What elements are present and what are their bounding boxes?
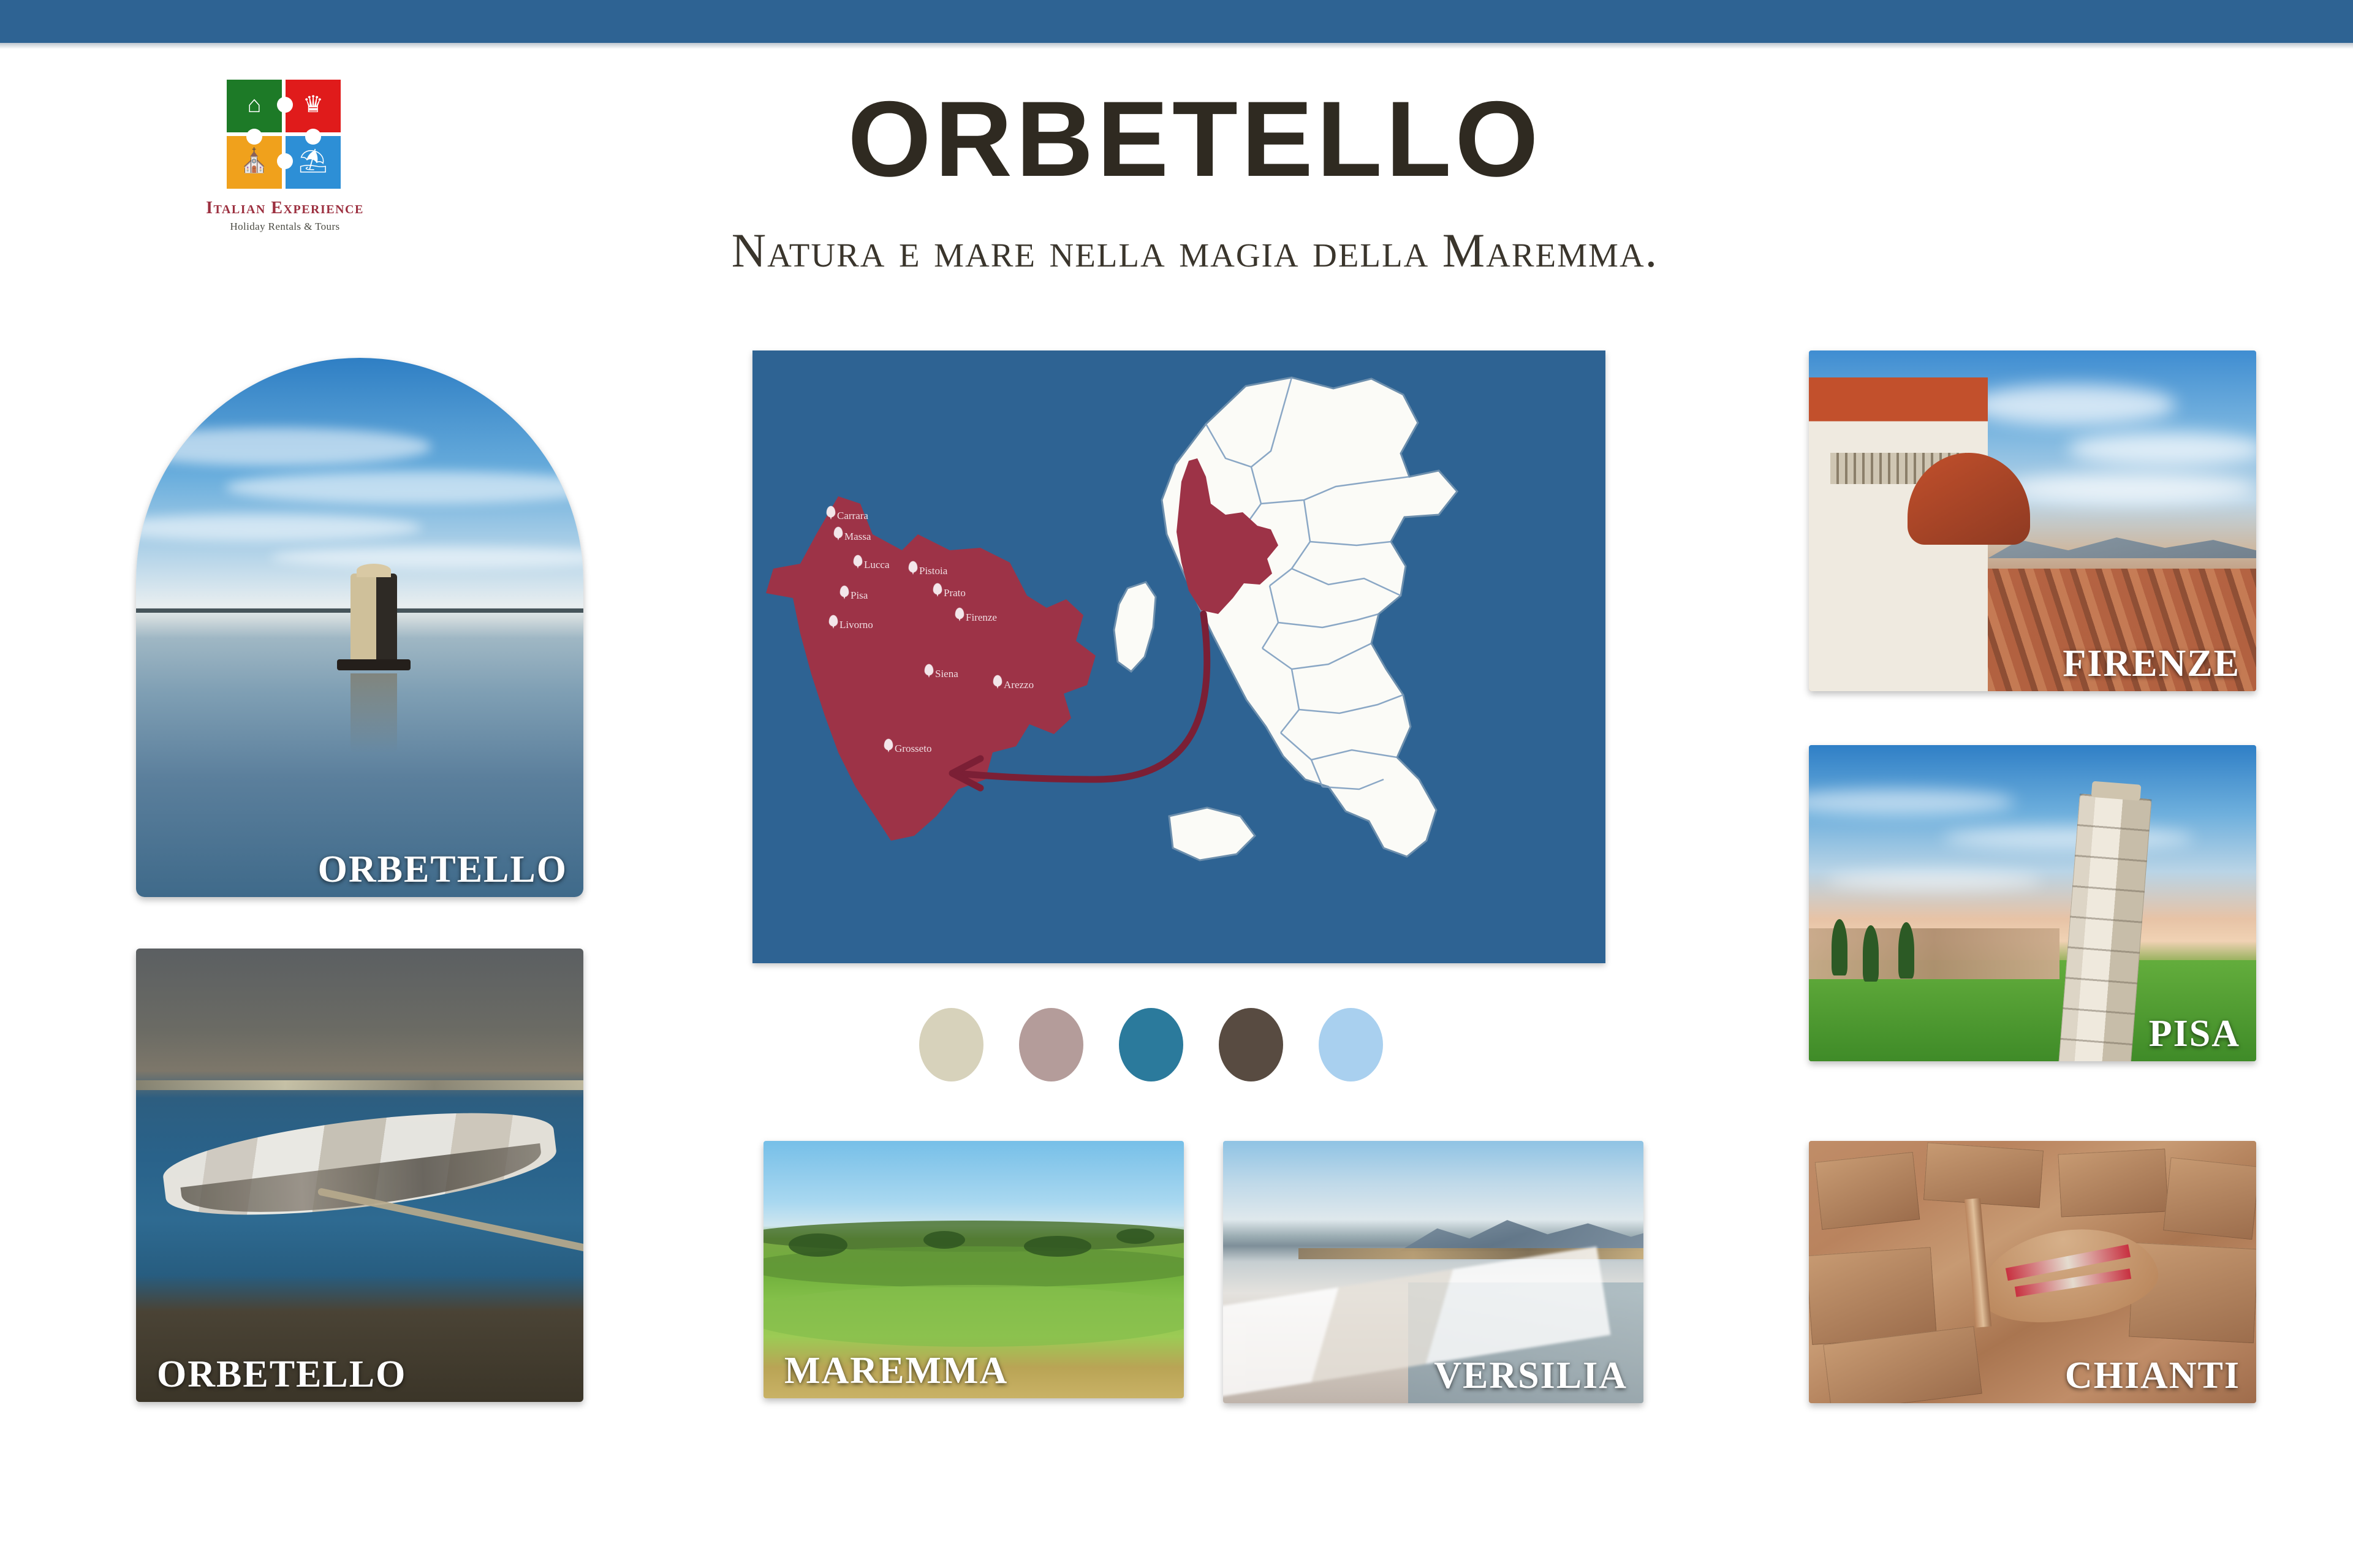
page-subtitle: Natura e mare nella magia della Maremma. (551, 227, 1838, 275)
card-maremma[interactable]: MAREMMA (763, 1141, 1184, 1398)
pin-label: Pistoia (919, 565, 947, 577)
palette-swatch-brown[interactable] (1219, 1008, 1283, 1081)
pin-icon (955, 608, 964, 619)
pin-icon (909, 561, 917, 572)
pin-label: Carrara (837, 510, 868, 522)
color-palette (919, 1005, 1440, 1085)
photo-firenze (1809, 350, 2256, 691)
card-versilia[interactable]: VERSILIA (1223, 1141, 1643, 1403)
top-blue-bar (0, 0, 2353, 43)
mask-icon: ♛ (286, 80, 341, 132)
card-caption: ORBETELLO (157, 1355, 406, 1393)
brand-logo[interactable]: ⌂ ♛ ⛪ ⛱ Italian Experience Holiday Renta… (184, 80, 386, 282)
house-glyph: ⌂ (248, 93, 262, 116)
house-icon: ⌂ (227, 80, 282, 132)
pin-icon (993, 675, 1002, 686)
card-caption: ORBETELLO (318, 850, 567, 888)
pin-label: Prato (944, 587, 966, 599)
photo-orbetello-aerial (136, 949, 583, 1402)
pin-icon (854, 555, 862, 566)
card-pisa[interactable]: PISA (1809, 745, 2256, 1061)
italy-tuscany-map (752, 350, 1605, 963)
card-caption: VERSILIA (1434, 1357, 1627, 1395)
puzzle-knob-top (277, 97, 293, 113)
palette-swatch-rose[interactable] (1019, 1008, 1083, 1081)
mask-glyph: ♛ (303, 93, 324, 116)
palette-swatch-teal[interactable] (1119, 1008, 1183, 1081)
card-caption: PISA (2149, 1015, 2240, 1053)
logo-brand-name: Italian Experience (184, 199, 386, 218)
card-orbetello-lagoon[interactable]: ORBETELLO (136, 358, 583, 897)
card-orbetello-aerial[interactable]: ORBETELLO (136, 949, 583, 1402)
people-glyph: ⛱ (298, 150, 328, 173)
pin-icon (829, 615, 838, 626)
puzzle-knob-bottom (277, 153, 293, 169)
pin-icon (840, 586, 849, 597)
page-title: ORBETELLO (551, 86, 1838, 193)
pin-label: Firenze (966, 612, 997, 624)
card-firenze[interactable]: FIRENZE (1809, 350, 2256, 691)
card-caption: MAREMMA (784, 1352, 1008, 1390)
pin-label: Arezzo (1004, 679, 1034, 691)
pin-icon (834, 527, 843, 538)
palette-swatch-lightblue[interactable] (1319, 1008, 1383, 1081)
pin-icon (933, 583, 942, 594)
pin-icon (884, 739, 893, 750)
pin-icon (925, 664, 933, 675)
pin-label: Livorno (839, 619, 873, 631)
card-caption: FIRENZE (2063, 645, 2240, 683)
pin-icon (827, 506, 835, 517)
palette-swatch-cream[interactable] (919, 1008, 983, 1081)
top-bar-shadow (0, 43, 2353, 49)
pin-label: Grosseto (895, 743, 931, 755)
sardinia-island (1114, 582, 1156, 672)
puzzle-logo-mark: ⌂ ♛ ⛪ ⛱ (227, 80, 343, 190)
map-panel: Carrara Massa Lucca Pistoia Pisa Prato L… (752, 350, 1605, 963)
temple-glyph: ⛪ (240, 150, 268, 173)
sicily-island (1169, 808, 1255, 860)
puzzle-knob-right (305, 129, 321, 145)
card-chianti[interactable]: CHIANTI (1809, 1141, 2256, 1403)
pin-label: Lucca (864, 559, 890, 571)
pin-label: Siena (935, 668, 958, 680)
pin-label: Pisa (851, 589, 868, 602)
card-caption: CHIANTI (2065, 1357, 2240, 1395)
logo-tagline: Holiday Rentals & Tours (184, 221, 386, 233)
puzzle-knob-left (246, 129, 262, 145)
pin-label: Massa (844, 531, 871, 543)
photo-orbetello-lagoon (136, 358, 583, 897)
